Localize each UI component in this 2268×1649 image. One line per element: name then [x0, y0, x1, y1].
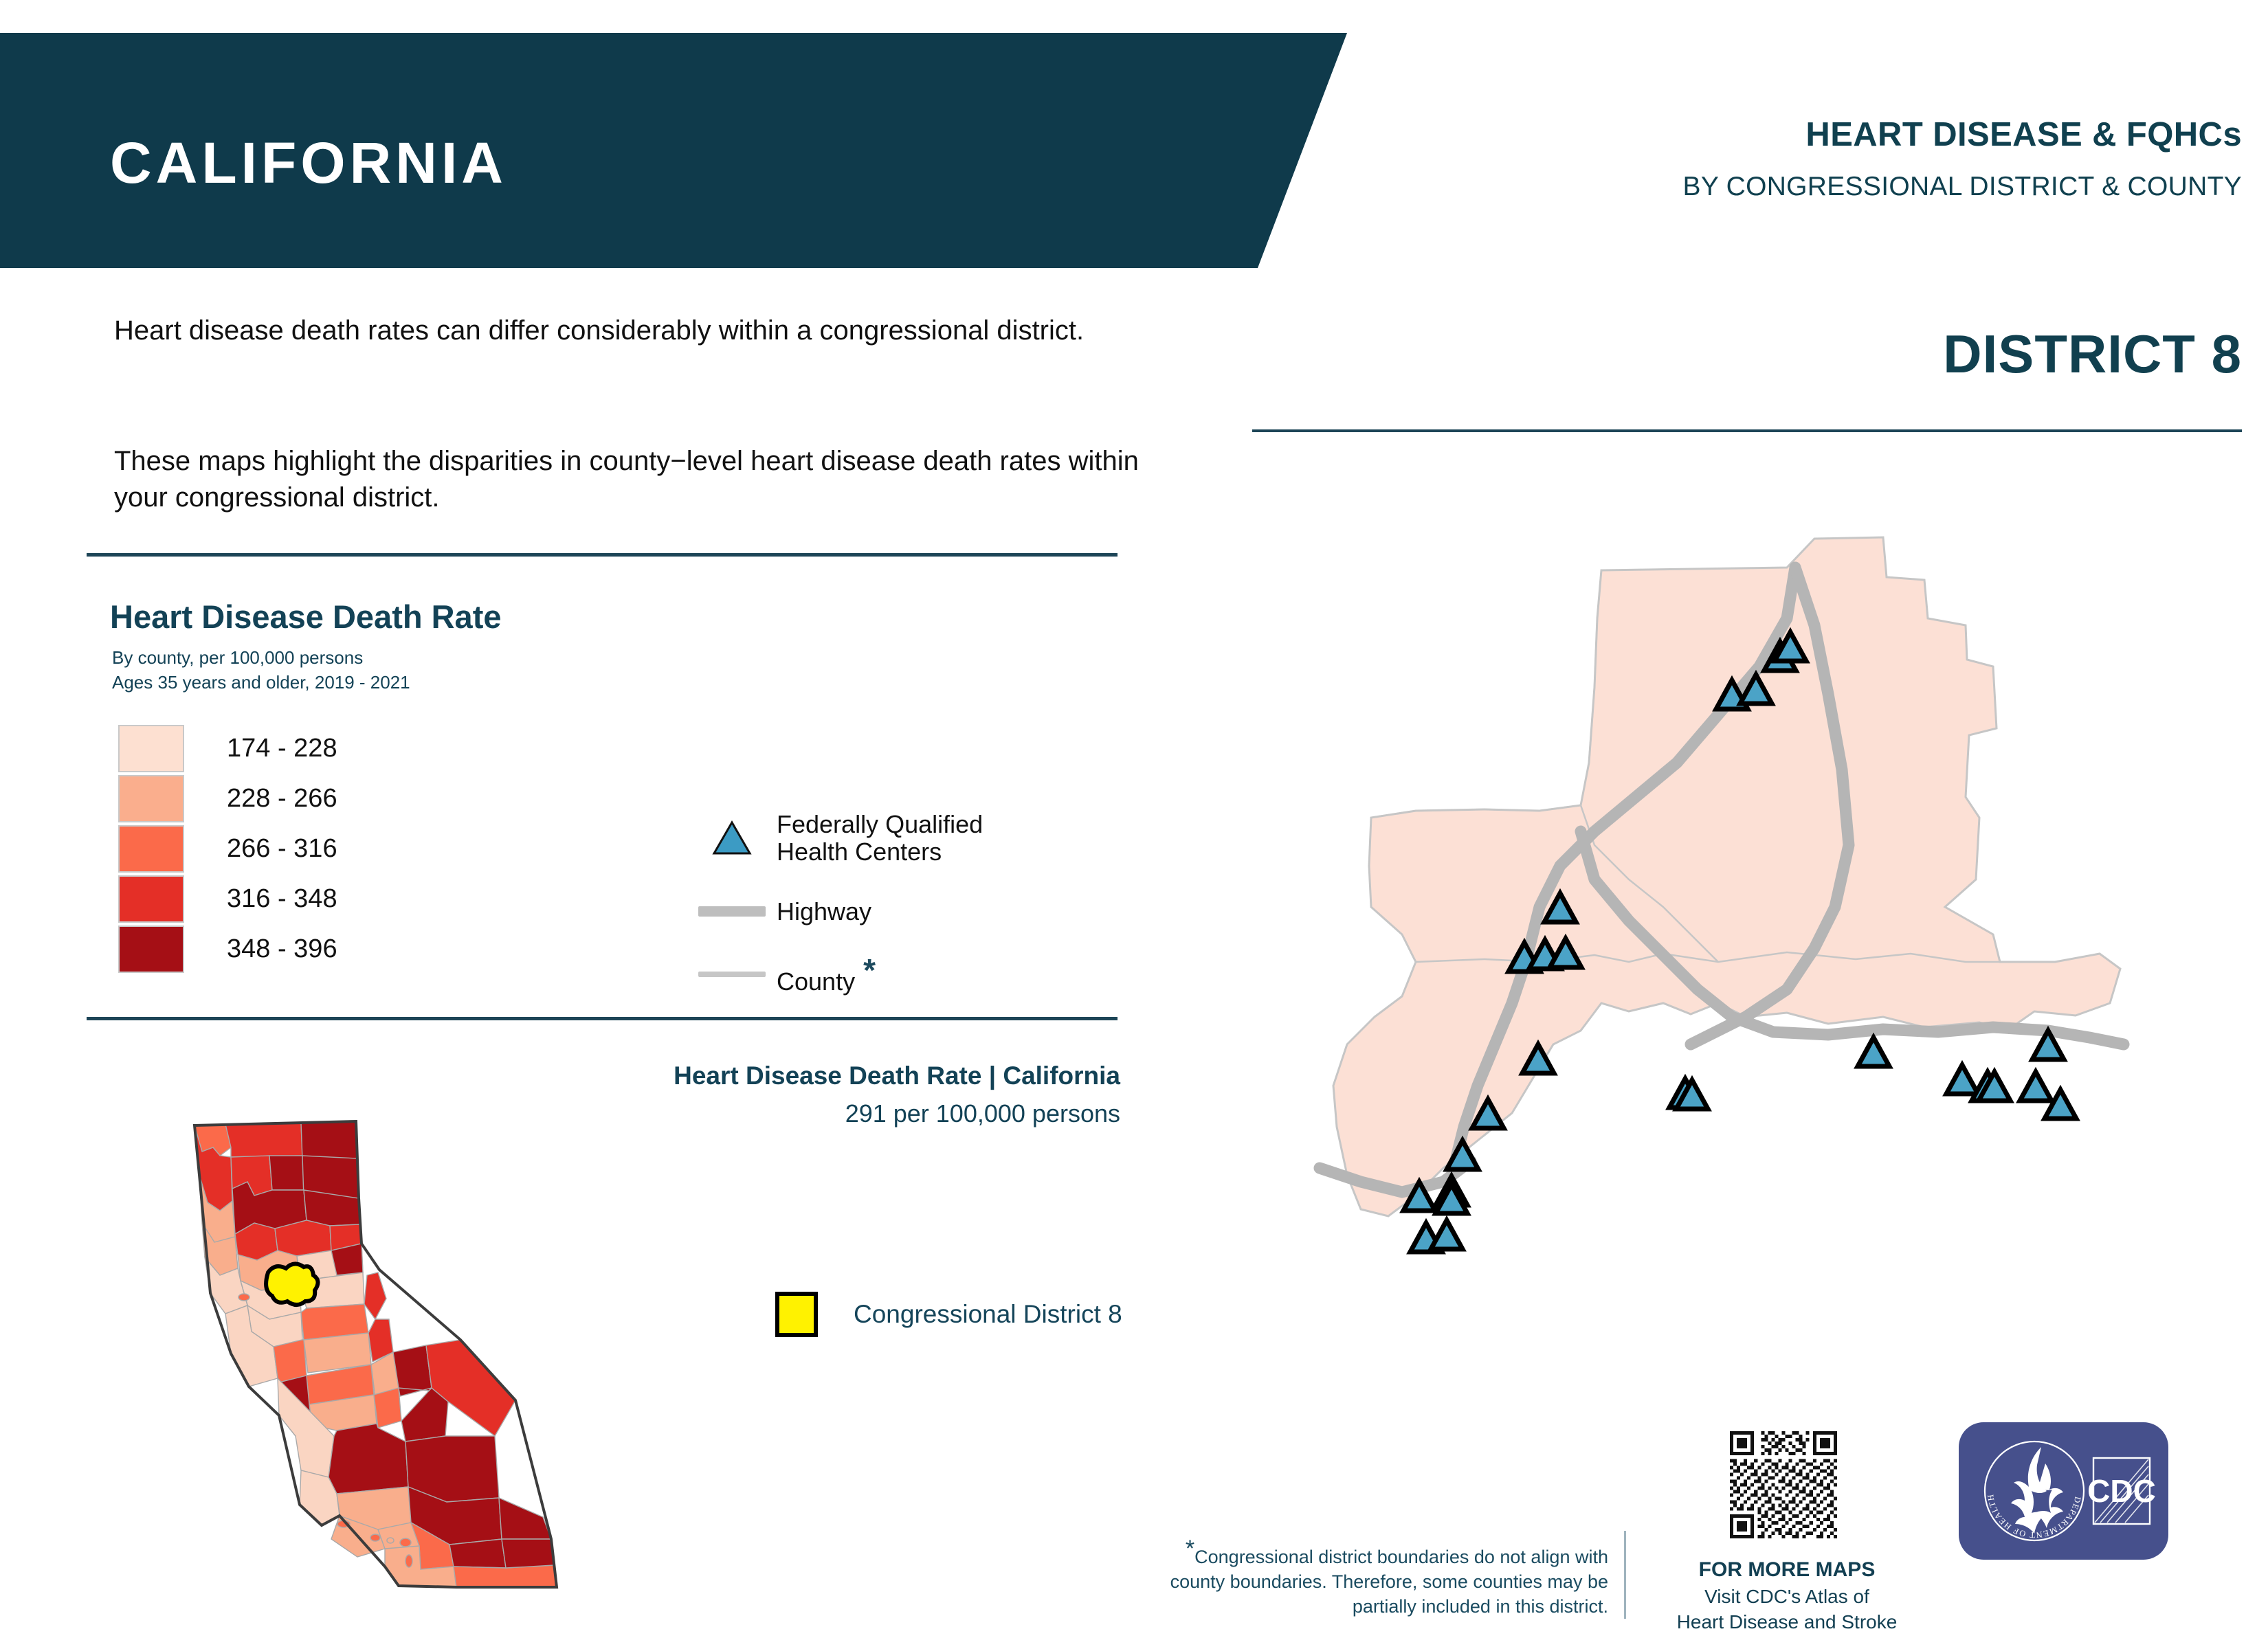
fqhc-marker — [1431, 1220, 1463, 1249]
triangle-marker-icon — [687, 819, 777, 857]
more-maps-title: FOR MORE MAPS — [1670, 1558, 1904, 1582]
legend-swatch-label: 348 - 396 — [227, 934, 337, 964]
highway-line-icon — [687, 906, 777, 917]
legend-row: 174 - 228 — [118, 723, 337, 774]
divider-top — [87, 553, 1118, 557]
legend-item-fqhc-label: Federally QualifiedHealth Centers — [777, 811, 983, 866]
legend-item-county: County* — [687, 953, 983, 996]
legend-item-highway: Highway — [687, 898, 983, 926]
district-map-svg — [1306, 522, 2165, 1257]
california-inset-map — [172, 1113, 584, 1594]
rate-legend-swatches: 174 - 228 228 - 266 266 - 316 316 - 348 … — [118, 723, 337, 974]
legend-swatch — [118, 875, 184, 923]
district-county-polygons — [1333, 537, 2120, 1216]
legend-swatch — [118, 825, 184, 873]
legend-item-county-label: County* — [777, 953, 876, 996]
fqhc-marker — [2020, 1072, 2052, 1101]
fqhc-marker — [1858, 1037, 1889, 1066]
footnote-text: *Congressional district boundaries do no… — [1155, 1534, 1608, 1619]
district-key-swatch — [775, 1292, 818, 1337]
county-line-icon — [687, 972, 777, 977]
more-maps-line-2: Heart Disease and Stroke — [1649, 1611, 1924, 1633]
legend-swatch-label: 266 - 316 — [227, 834, 337, 864]
qr-code-icon[interactable] — [1726, 1428, 1841, 1542]
footer-divider — [1624, 1531, 1626, 1619]
cdc-logo: DEPARTMENT OF HEALTH & HUMAN SERVICES-US… — [1959, 1422, 2168, 1560]
state-rate-title: Heart Disease Death Rate | California — [412, 1062, 1120, 1090]
legend-item-fqhc: Federally QualifiedHealth Centers — [687, 811, 983, 866]
divider-middle — [87, 1017, 1118, 1020]
legend-subtitle-1: By county, per 100,000 persons — [112, 647, 363, 669]
legend-row: 266 - 316 — [118, 824, 337, 874]
divider-district — [1252, 429, 2242, 432]
california-inset-svg — [172, 1113, 584, 1594]
district-map — [1306, 522, 2165, 1257]
county-text: County — [777, 967, 855, 996]
legend-swatch-label: 316 - 348 — [227, 884, 337, 914]
legend-swatch-label: 174 - 228 — [227, 734, 337, 763]
legend-swatch-label: 228 - 266 — [227, 784, 337, 814]
symbol-legend: Federally QualifiedHealth Centers Highwa… — [687, 811, 983, 1019]
intro-paragraph-2: These maps highlight the disparities in … — [114, 443, 1145, 516]
state-title: CALIFORNIA — [110, 134, 507, 192]
fqhc-marker — [1946, 1065, 1978, 1094]
footnote-body: Congressional district boundaries do not… — [1170, 1547, 1608, 1617]
district-highlight-shape — [266, 1264, 318, 1305]
legend-title: Heart Disease Death Rate — [110, 598, 502, 636]
page-title: HEART DISEASE & FQHCs — [1417, 115, 2242, 154]
legend-row: 348 - 396 — [118, 924, 337, 974]
cdc-logo-text: CDC — [2087, 1473, 2156, 1509]
triangle-marker-icon-svg — [711, 819, 753, 857]
page-subtitle: BY CONGRESSIONAL DISTRICT & COUNTY — [1348, 172, 2242, 202]
legend-subtitle-2: Ages 35 years and older, 2019 - 2021 — [112, 672, 410, 693]
footnote-star-icon: * — [863, 952, 876, 988]
legend-swatch — [118, 725, 184, 772]
more-maps-line-1: Visit CDC's Atlas of — [1670, 1586, 1904, 1608]
district-key-label: Congressional District 8 — [854, 1300, 1122, 1329]
intro-paragraph-1: Heart disease death rates can differ con… — [114, 313, 1111, 349]
legend-row: 316 - 348 — [118, 874, 337, 924]
legend-item-highway-label: Highway — [777, 898, 871, 926]
footnote-star-marker: * — [1186, 1536, 1194, 1562]
district-outline — [1333, 537, 2120, 1216]
legend-row: 228 - 266 — [118, 774, 337, 824]
legend-swatch — [118, 926, 184, 973]
cdc-logo-svg: DEPARTMENT OF HEALTH & HUMAN SERVICES-US… — [1959, 1422, 2168, 1560]
qr-code-svg — [1726, 1428, 1841, 1542]
legend-swatch — [118, 775, 184, 822]
congressional-district-key: Congressional District 8 — [775, 1292, 1122, 1337]
district-title: DISTRICT 8 — [1280, 323, 2242, 385]
